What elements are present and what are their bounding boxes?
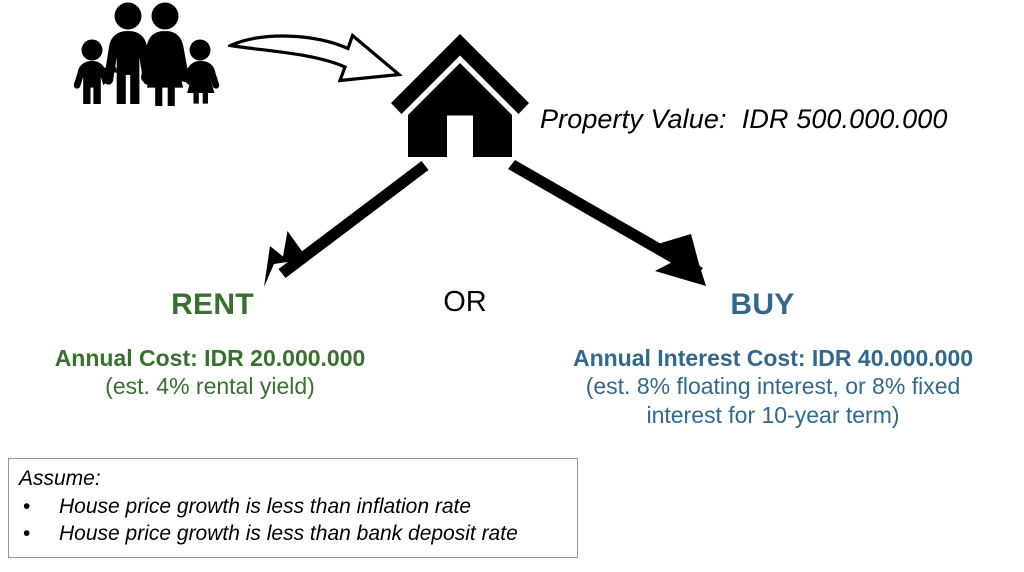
buy-detail-block: Annual Interest Cost: IDR 40.000.000 (es… [522, 344, 1024, 430]
buy-heading: BUY [660, 288, 865, 322]
buy-note-line-2: interest for 10-year term) [522, 401, 1024, 430]
assumption-text: House price growth is less than bank dep… [59, 522, 518, 545]
buy-cost-line: Annual Interest Cost: IDR 40.000.000 [522, 344, 1024, 372]
diagram-canvas: Property Value: IDR 500.000.000 OR RENT … [0, 0, 1024, 572]
assumptions-list: • House price growth is less than inflat… [19, 493, 567, 548]
rent-cost-line: Annual Cost: IDR 20.000.000 [0, 344, 420, 372]
list-item: • House price growth is less than inflat… [19, 493, 567, 520]
rent-detail-block: Annual Cost: IDR 20.000.000 (est. 4% ren… [0, 344, 420, 401]
family-icon [66, 2, 222, 107]
or-label: OR [412, 286, 518, 319]
rent-note-line-1: (est. 4% rental yield) [0, 372, 420, 401]
assumption-text: House price growth is less than inflatio… [59, 495, 471, 518]
list-item: • House price growth is less than bank d… [19, 520, 567, 547]
property-value-label: Property Value: IDR 500.000.000 [540, 104, 947, 135]
assumptions-box: Assume: • House price growth is less tha… [8, 458, 578, 558]
arrow-down-left-icon [250, 160, 435, 290]
curved-arrow-icon [228, 26, 408, 98]
house-icon [390, 20, 530, 160]
buy-note-line-1: (est. 8% floating interest, or 8% fixed [522, 372, 1024, 401]
bullet-icon: • [23, 493, 30, 520]
rent-heading: RENT [110, 288, 315, 322]
assumptions-title: Assume: [19, 467, 567, 492]
arrow-down-right-icon [500, 160, 715, 290]
bullet-icon: • [23, 520, 30, 547]
